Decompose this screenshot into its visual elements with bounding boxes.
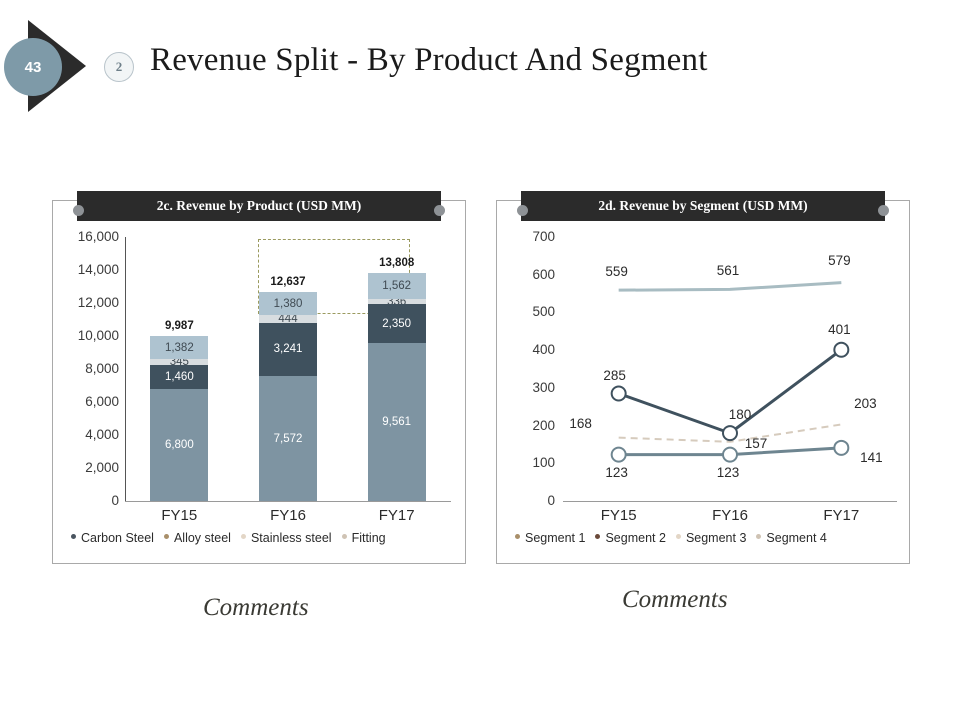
y-axis-tick-label: 6,000 (59, 394, 119, 409)
legend-item-segment-2[interactable]: Segment 2 (595, 531, 665, 545)
y-axis-tick-label: 8,000 (59, 361, 119, 376)
x-axis-tick-label: FY15 (574, 507, 664, 524)
data-point-marker (834, 343, 848, 357)
legend-label: Segment 3 (686, 531, 746, 545)
x-axis-tick-label: FY15 (134, 507, 224, 524)
bar-segment: 9,561 (368, 343, 426, 501)
y-axis-tick-label: 14,000 (59, 262, 119, 277)
line-segment-1 (619, 283, 842, 291)
data-point-label: 203 (835, 396, 895, 411)
bar-total-label: 13,808 (352, 257, 442, 269)
data-point-label: 123 (698, 465, 758, 480)
data-point-label: 579 (809, 253, 869, 268)
legend-label: Fitting (352, 531, 386, 545)
bar-segment: 1,460 (150, 365, 208, 389)
x-axis-line (125, 501, 451, 502)
x-axis-tick-label: FY17 (796, 507, 886, 524)
data-point-label: 123 (587, 465, 647, 480)
legend-item-stainless-steel[interactable]: Stainless steel (241, 531, 332, 545)
data-point-label: 157 (726, 436, 786, 451)
slide-number-badge: 43 (4, 38, 62, 96)
y-axis-tick-label: 12,000 (59, 295, 119, 310)
bar-segment: 1,382 (150, 336, 208, 359)
bar-total-label: 12,637 (243, 276, 333, 288)
x-axis-tick-label: FY16 (685, 507, 775, 524)
data-point-label: 180 (710, 407, 770, 422)
legend-label: Segment 1 (525, 531, 585, 545)
legend-dot-icon (164, 534, 169, 539)
data-point-label: 168 (551, 416, 611, 431)
legend-label: Segment 2 (605, 531, 665, 545)
legend-item-alloy-steel[interactable]: Alloy steel (164, 531, 231, 545)
x-axis-tick-label: FY17 (352, 507, 442, 524)
bar-chart-revenue-by-product: 02,0004,0006,0008,00010,00012,00014,0001… (53, 201, 465, 563)
data-point-label: 401 (809, 322, 869, 337)
data-point-label: 141 (841, 450, 901, 465)
legend-label: Alloy steel (174, 531, 231, 545)
legend-label: Carbon Steel (81, 531, 154, 545)
legend-item-segment-1[interactable]: Segment 1 (515, 531, 585, 545)
y-axis-tick-label: 16,000 (59, 229, 119, 244)
legend-revenue-by-product: Carbon SteelAlloy steelStainless steelFi… (71, 531, 396, 545)
data-point-label: 559 (587, 264, 647, 279)
legend-item-segment-3[interactable]: Segment 3 (676, 531, 746, 545)
y-axis-tick-label: 2,000 (59, 460, 119, 475)
x-axis-tick-label: FY16 (243, 507, 333, 524)
bar-segment: 2,350 (368, 304, 426, 343)
bar-segment: 1,562 (368, 273, 426, 299)
legend-item-fitting[interactable]: Fitting (342, 531, 386, 545)
data-point-marker (612, 448, 626, 462)
bar-total-label: 9,987 (134, 320, 224, 332)
comments-right: Comments (622, 586, 728, 614)
bar-segment: 7,572 (259, 376, 317, 501)
legend-revenue-by-segment: Segment 1Segment 2Segment 3Segment 4 (515, 531, 837, 545)
ribbon-knob-left-icon (517, 205, 528, 216)
data-point-label: 561 (698, 263, 758, 278)
legend-dot-icon (595, 534, 600, 539)
panel-revenue-by-product: 2c. Revenue by Product (USD MM) 02,0004,… (52, 200, 466, 564)
y-axis-tick-label: 4,000 (59, 427, 119, 442)
legend-label: Stainless steel (251, 531, 332, 545)
legend-dot-icon (676, 534, 681, 539)
legend-dot-icon (756, 534, 761, 539)
y-axis-line (125, 237, 126, 501)
step-number-badge: 2 (104, 52, 134, 82)
bar-segment: 3,241 (259, 323, 317, 376)
legend-label: Segment 4 (766, 531, 826, 545)
line-chart-revenue-by-segment: 0100200300400500600700559561579285180401… (497, 201, 909, 563)
bar-segment: 1,380 (259, 292, 317, 315)
legend-item-segment-4[interactable]: Segment 4 (756, 531, 826, 545)
page-title: Revenue Split - By Product And Segment (150, 42, 708, 79)
panel-title-revenue-by-product: 2c. Revenue by Product (USD MM) (77, 191, 441, 221)
y-axis-tick-label: 10,000 (59, 328, 119, 343)
data-point-marker (612, 387, 626, 401)
data-point-label: 285 (585, 368, 645, 383)
y-axis-tick-label: 0 (59, 493, 119, 508)
bar-segment: 444 (259, 315, 317, 322)
ribbon-knob-left-icon (73, 205, 84, 216)
bar-segment: 336 (368, 299, 426, 305)
bar-segment: 6,800 (150, 389, 208, 501)
legend-dot-icon (342, 534, 347, 539)
slide-header: 43 2 Revenue Split - By Product And Segm… (0, 0, 960, 130)
ribbon-knob-right-icon (878, 205, 889, 216)
comments-left: Comments (203, 594, 309, 622)
legend-dot-icon (241, 534, 246, 539)
ribbon-knob-right-icon (434, 205, 445, 216)
panel-revenue-by-segment: 2d. Revenue by Segment (USD MM) 01002003… (496, 200, 910, 564)
bar-segment: 345 (150, 359, 208, 365)
panel-title-revenue-by-segment: 2d. Revenue by Segment (USD MM) (521, 191, 885, 221)
legend-item-carbon-steel[interactable]: Carbon Steel (71, 531, 154, 545)
legend-dot-icon (515, 534, 520, 539)
legend-dot-icon (71, 534, 76, 539)
